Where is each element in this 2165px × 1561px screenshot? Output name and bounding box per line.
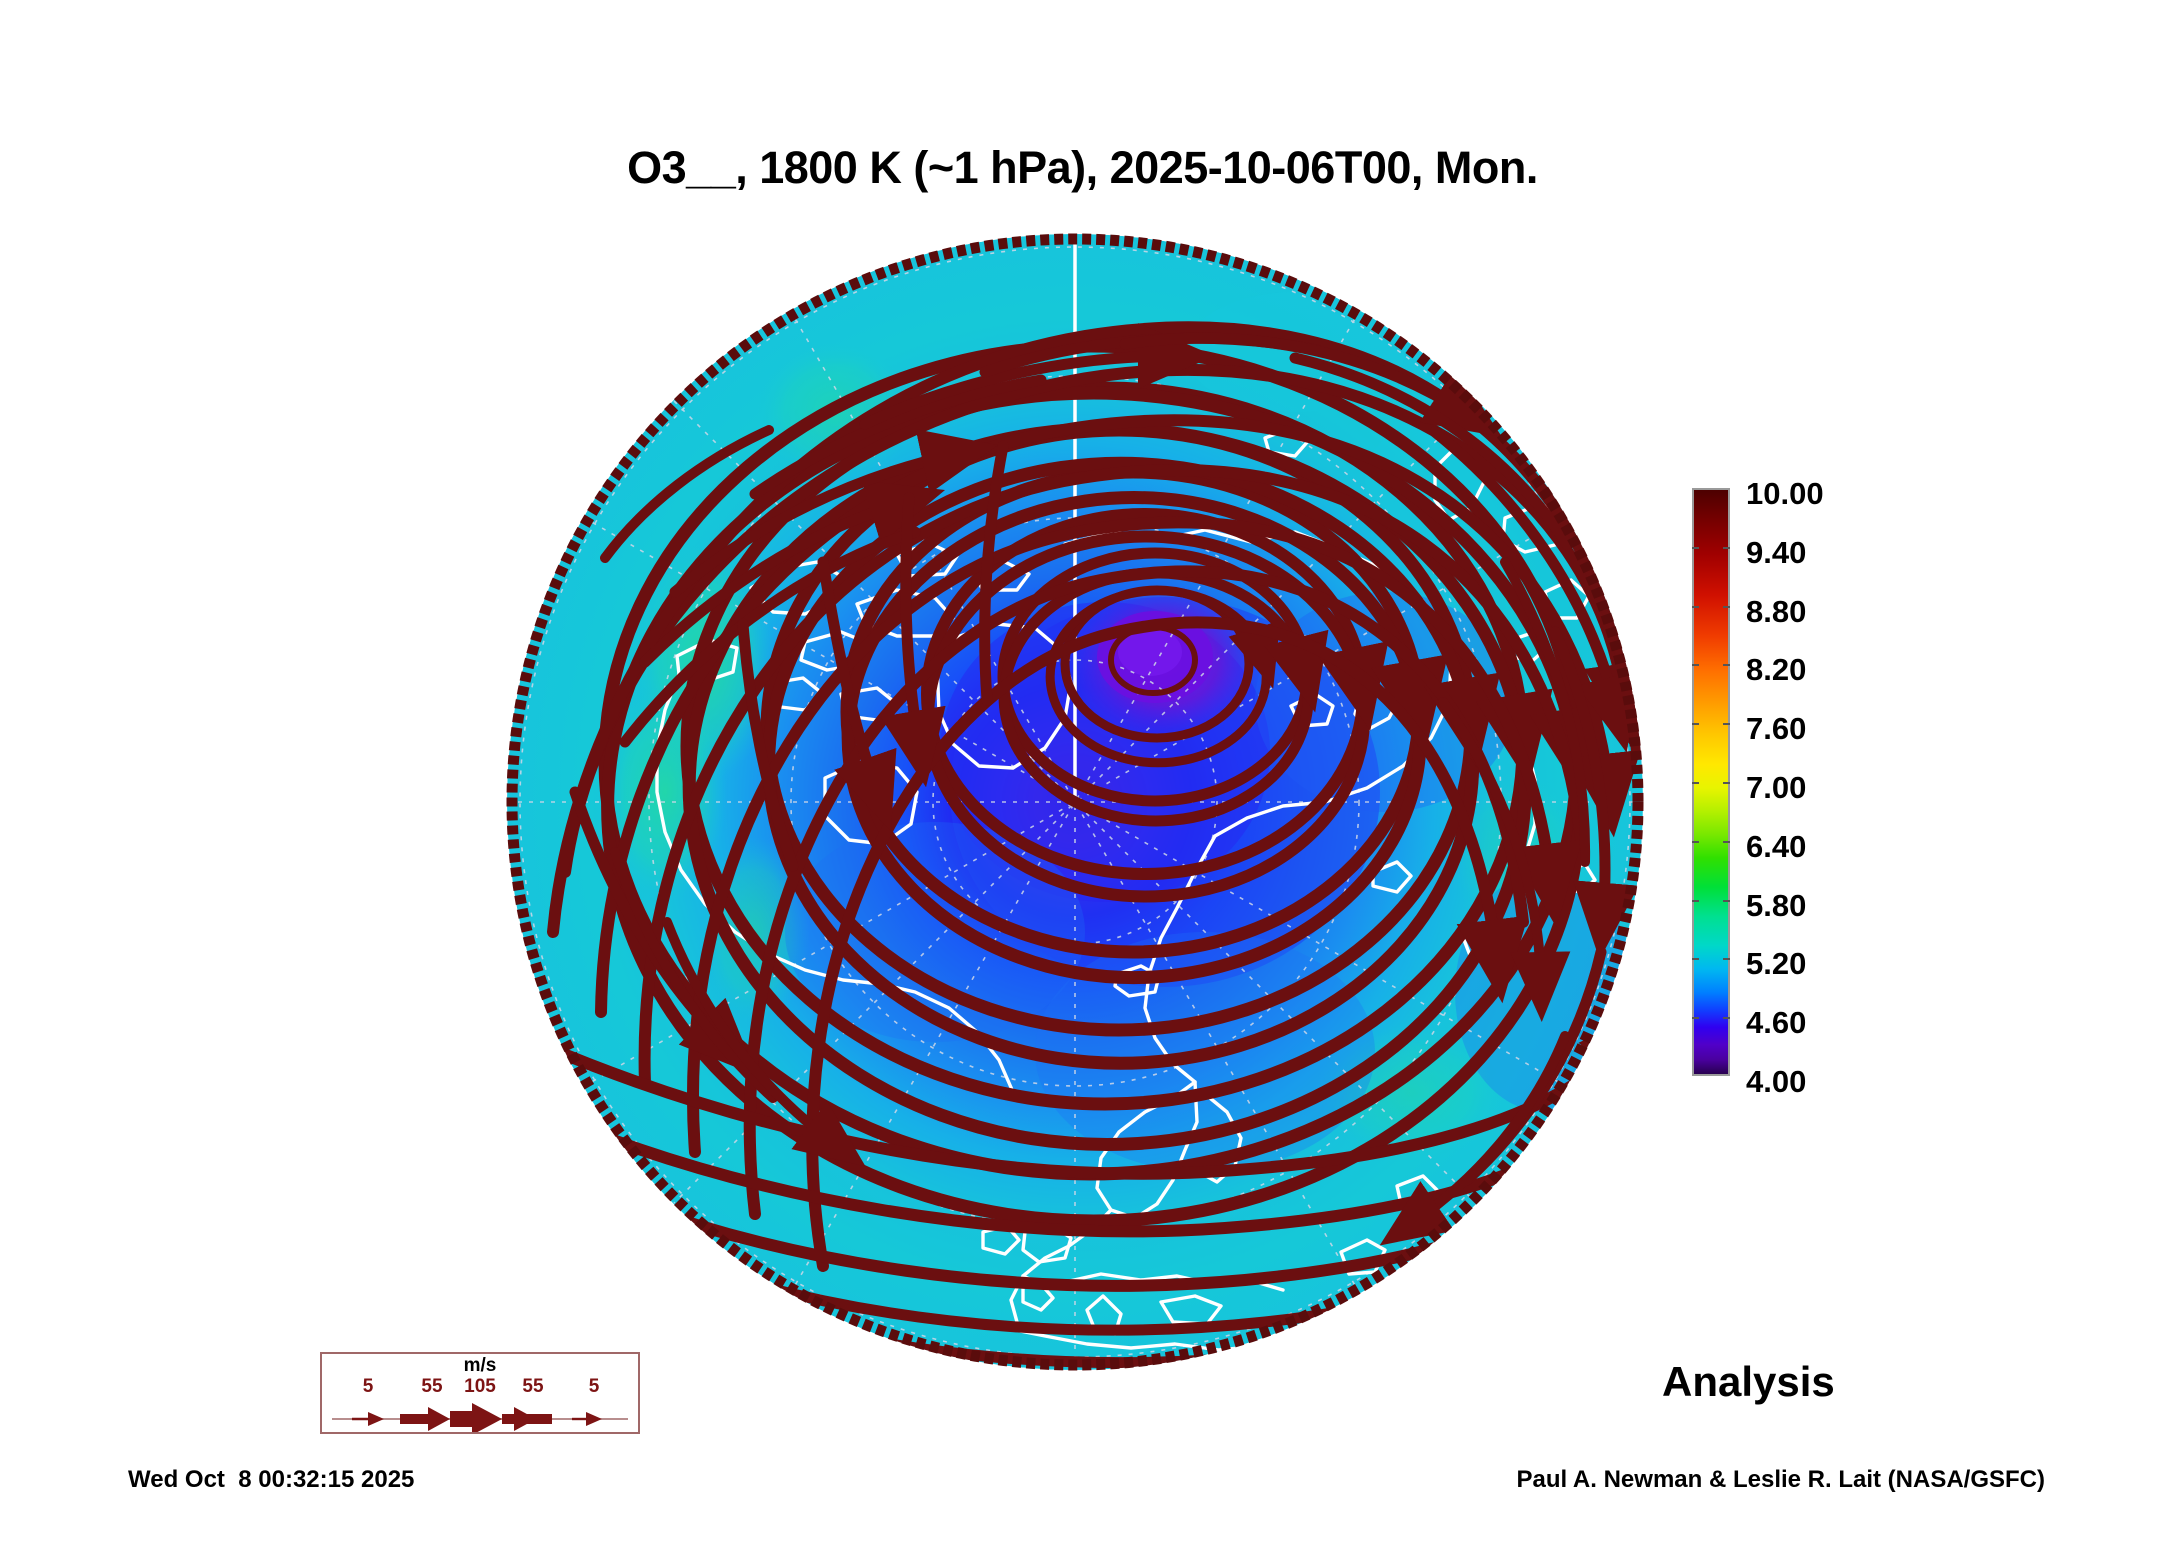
wind-legend-value-55-left: 55	[421, 1376, 442, 1398]
author-credit: Paul A. Newman & Leslie R. Lait (NASA/GS…	[1516, 1466, 2045, 1494]
colorbar-label-4-00: 4.00	[1746, 1066, 1806, 1097]
colorbar-label-4-60: 4.60	[1746, 1007, 1806, 1038]
colorbar-label-6-40: 6.40	[1746, 831, 1806, 862]
colorbar-label-5-20: 5.20	[1746, 948, 1806, 979]
colorbar-label-7-60: 7.60	[1746, 713, 1806, 744]
wind-legend-value-55-right: 55	[522, 1376, 543, 1398]
page-title: O3__, 1800 K (~1 hPa), 2025-10-06T00, Mo…	[0, 142, 2165, 194]
polar-stereographic-map[interactable]	[505, 232, 1645, 1372]
colorbar-label-9-40: 9.40	[1746, 537, 1806, 568]
map-panel[interactable]	[505, 232, 1645, 1372]
colorbar-label-7-00: 7.00	[1746, 772, 1806, 803]
wind-legend-arrow-scale	[322, 1402, 638, 1432]
colorbar-label-8-20: 8.20	[1746, 654, 1806, 685]
colorbar-label-10-00: 10.00	[1746, 478, 1824, 509]
wind-legend-value-5-right: 5	[589, 1376, 600, 1398]
colorbar-label-8-80: 8.80	[1746, 596, 1806, 627]
colorbar-ticks	[1692, 488, 1730, 1076]
colorbar-label-5-80: 5.80	[1746, 890, 1806, 921]
wind-legend-values: 5 55 105 55 5	[322, 1376, 638, 1400]
wind-legend-unit: m/s	[322, 1355, 638, 1377]
render-timestamp: Wed Oct 8 00:32:15 2025	[128, 1466, 414, 1494]
wind-legend-value-5-left: 5	[363, 1376, 374, 1398]
polar-ozone-figure: O3__, 1800 K (~1 hPa), 2025-10-06T00, Mo…	[0, 0, 2165, 1561]
wind-speed-legend: m/s 5 55 105 55 5	[320, 1352, 640, 1434]
wind-legend-value-105: 105	[464, 1376, 496, 1398]
analysis-label: Analysis	[1662, 1358, 1835, 1406]
colorbar-labels: 10.00 9.40 8.80 8.20 7.60 7.00 6.40 5.80…	[1746, 478, 1946, 1088]
colorbar[interactable]: 10.00 9.40 8.80 8.20 7.60 7.00 6.40 5.80…	[1692, 478, 2112, 1088]
